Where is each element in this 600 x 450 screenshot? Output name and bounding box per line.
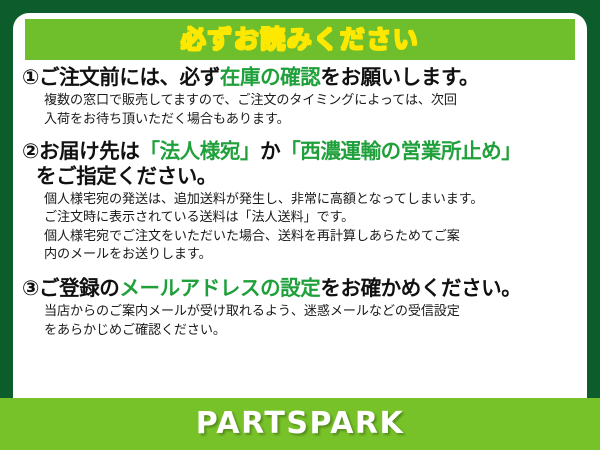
notice-item-2-marker: ② bbox=[22, 139, 39, 163]
brand-logo: PARTSPARK bbox=[196, 409, 405, 439]
notice-item-3-head-prefix: ご登録の bbox=[39, 276, 119, 300]
notice-item-3-subtext: 当店からのご案内メールが受け取れるよう、迷惑メールなどの受信設定 をあらかじめご… bbox=[22, 300, 579, 340]
notice-item-3-subtext-line-2: をあらかじめご確認ください。 bbox=[44, 322, 579, 341]
notice-item-1-subtext-line-2: 入荷をお待ち頂いただく場合もあります。 bbox=[44, 111, 579, 130]
notice-item-2-head-middle: か bbox=[260, 139, 280, 163]
notice-item-2-subtext-line-1: 個人様宅宛の発送は、追加送料が発生し、非常に高額となってしまいます。 bbox=[44, 191, 579, 210]
notice-item-2-subtext: 個人様宅宛の発送は、追加送料が発生し、非常に高額となってしまいます。 ご注文時に… bbox=[22, 188, 579, 265]
notice-item-3-highlight: メールアドレスの設定 bbox=[119, 276, 320, 300]
notice-item-2: ②お届け先は「法人様宛」か「西濃運輸の営業所止め」 をご指定ください。 個人様宅… bbox=[22, 139, 579, 265]
notice-item-2-subtext-line-2: ご注文時に表示されている送料は「法人送料」です。 bbox=[44, 209, 579, 228]
notice-item-1-head-prefix: ご注文前には、必ず bbox=[39, 65, 220, 89]
page-title: 必ずお読みください bbox=[181, 27, 420, 52]
footer-band: PARTSPARK bbox=[0, 398, 600, 450]
notice-item-2-subtext-line-3: 個人様宅宛でご注文をいただいた場合、送料を再計算しあらためてご案 bbox=[44, 228, 579, 247]
notice-item-1-subtext: 複数の窓口で販売してますので、ご注文のタイミングによっては、次回 入荷をお待ち頂… bbox=[22, 89, 579, 129]
notice-item-3-head-suffix: をお確かめください。 bbox=[320, 276, 521, 300]
notice-item-1-head-suffix: をお願いします。 bbox=[320, 65, 479, 89]
notice-item-1-subtext-line-1: 複数の窓口で販売してますので、ご注文のタイミングによっては、次回 bbox=[44, 92, 579, 111]
notice-item-2-heading-line-2: をご指定ください。 bbox=[22, 164, 579, 188]
notice-body: ①ご注文前には、必ず在庫の確認をお願いします。 複数の窓口で販売してますので、ご… bbox=[13, 63, 587, 393]
notice-item-3: ③ご登録のメールアドレスの設定をお確かめください。 当店からのご案内メールが受け… bbox=[22, 276, 579, 340]
header-band: 必ずお読みください bbox=[25, 19, 575, 60]
notice-item-2-highlight-1: 「法人様宛」 bbox=[139, 139, 260, 163]
notice-item-1-heading: ①ご注文前には、必ず在庫の確認をお願いします。 bbox=[22, 65, 579, 89]
notice-card: 必ずお読みください ①ご注文前には、必ず在庫の確認をお願いします。 複数の窓口で… bbox=[0, 0, 600, 450]
notice-item-3-heading: ③ご登録のメールアドレスの設定をお確かめください。 bbox=[22, 276, 579, 300]
notice-item-2-head-prefix: お届け先は bbox=[39, 139, 140, 163]
notice-item-2-heading: ②お届け先は「法人様宛」か「西濃運輸の営業所止め」 bbox=[22, 139, 579, 163]
notice-item-1-highlight: 在庫の確認 bbox=[220, 65, 321, 89]
notice-item-3-subtext-line-1: 当店からのご案内メールが受け取れるよう、迷惑メールなどの受信設定 bbox=[44, 303, 579, 322]
notice-item-2-highlight-2: 「西濃運輸の営業所止め」 bbox=[280, 139, 521, 163]
notice-item-1: ①ご注文前には、必ず在庫の確認をお願いします。 複数の窓口で販売してますので、ご… bbox=[22, 65, 579, 129]
notice-item-3-marker: ③ bbox=[22, 276, 39, 300]
notice-item-2-subtext-line-4: 内のメールをお送りします。 bbox=[44, 246, 579, 265]
notice-item-1-marker: ① bbox=[22, 65, 39, 89]
notice-panel: 必ずお読みください ①ご注文前には、必ず在庫の確認をお願いします。 複数の窓口で… bbox=[13, 13, 587, 437]
